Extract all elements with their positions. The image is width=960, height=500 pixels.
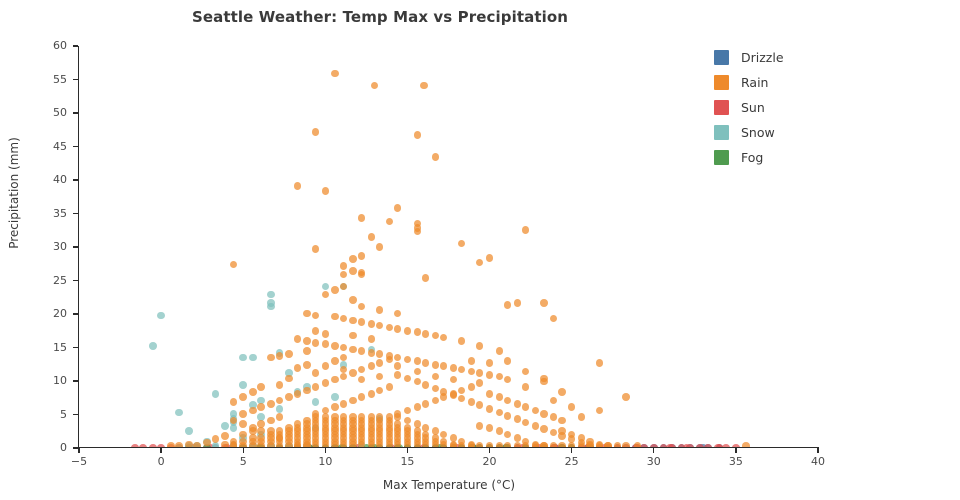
data-point-rain — [504, 376, 512, 384]
data-point-rain — [257, 383, 265, 391]
data-point-rain — [312, 383, 320, 391]
data-point-rain — [368, 390, 376, 398]
data-point-rain — [358, 376, 366, 384]
data-point-rain — [486, 424, 494, 432]
y-tick-mark — [73, 447, 78, 448]
y-tick-mark — [73, 45, 78, 46]
data-point-snow — [312, 398, 320, 406]
data-point-rain — [276, 397, 284, 405]
data-point-rain — [458, 366, 466, 374]
x-axis-line — [79, 447, 819, 448]
data-point-rain — [368, 233, 376, 241]
data-point-rain — [212, 435, 220, 443]
data-point-rain — [340, 262, 348, 270]
data-point-rain — [285, 424, 293, 432]
data-point-rain — [371, 82, 379, 90]
data-point-rain — [422, 400, 430, 408]
y-tick-mark — [73, 380, 78, 381]
data-point-snow — [175, 409, 183, 417]
data-point-rain — [285, 350, 293, 358]
data-point-rain — [568, 403, 576, 411]
data-point-rain — [496, 373, 504, 381]
data-point-rain — [458, 395, 466, 403]
data-point-rain — [386, 413, 394, 421]
legend-item-fog[interactable]: Fog — [714, 145, 894, 170]
data-point-rain — [312, 128, 320, 136]
data-point-rain — [432, 397, 440, 405]
data-point-rain — [458, 337, 466, 345]
data-point-rain — [331, 357, 339, 365]
data-point-rain — [504, 431, 512, 439]
data-point-rain — [340, 315, 348, 323]
data-point-rain — [285, 375, 293, 383]
x-tick-mark — [653, 448, 654, 453]
y-tick-mark — [73, 280, 78, 281]
data-point-rain — [414, 368, 422, 376]
x-tick-mark — [325, 448, 326, 453]
data-point-rain — [386, 324, 394, 332]
data-point-rain — [358, 413, 366, 421]
data-point-rain — [550, 413, 558, 421]
data-point-rain — [404, 407, 412, 415]
data-point-rain — [303, 347, 311, 355]
x-tick-label: 25 — [552, 455, 592, 468]
data-point-rain — [358, 252, 366, 260]
data-point-rain — [504, 397, 512, 405]
data-point-rain — [276, 413, 284, 421]
data-point-snow — [322, 283, 330, 291]
legend-item-snow[interactable]: Snow — [714, 120, 894, 145]
data-point-snow — [239, 381, 247, 389]
data-point-snow — [185, 427, 193, 435]
data-point-rain — [468, 398, 476, 406]
data-point-rain — [404, 424, 412, 432]
data-point-rain — [276, 352, 284, 360]
y-tick-label: 60 — [5, 39, 67, 52]
data-point-rain — [376, 322, 384, 330]
data-point-rain — [303, 361, 311, 369]
data-point-rain — [322, 413, 330, 421]
data-point-rain — [376, 387, 384, 395]
data-point-rain — [349, 413, 357, 421]
data-point-rain — [404, 327, 412, 335]
data-point-rain — [394, 420, 402, 428]
data-point-rain — [496, 393, 504, 401]
data-point-rain — [476, 369, 484, 377]
data-point-rain — [368, 335, 376, 343]
data-point-rain — [468, 368, 476, 376]
x-tick-label: 30 — [634, 455, 674, 468]
data-point-rain — [331, 313, 339, 321]
x-tick-label: 15 — [387, 455, 427, 468]
x-axis-label: Max Temperature (°C) — [79, 478, 819, 492]
x-tick-mark — [78, 448, 79, 453]
data-point-rain — [522, 403, 530, 411]
data-point-rain — [249, 388, 257, 396]
data-point-snow — [230, 424, 238, 432]
data-point-rain — [312, 369, 320, 377]
data-point-rain — [294, 420, 302, 428]
legend-swatch-snow — [714, 125, 729, 140]
legend-item-rain[interactable]: Rain — [714, 70, 894, 95]
data-point-rain — [294, 390, 302, 398]
data-point-rain — [394, 410, 402, 418]
data-point-rain — [422, 274, 430, 282]
y-tick-mark — [73, 313, 78, 314]
data-point-rain — [414, 328, 422, 336]
y-tick-mark — [73, 213, 78, 214]
data-point-rain — [476, 379, 484, 387]
data-point-rain — [331, 70, 339, 78]
data-point-rain — [239, 420, 247, 428]
legend-label: Fog — [741, 150, 763, 165]
data-point-rain — [312, 245, 320, 253]
data-point-rain — [322, 379, 330, 387]
data-point-rain — [358, 303, 366, 311]
data-point-rain — [358, 271, 366, 279]
data-point-rain — [349, 346, 357, 354]
data-point-rain — [578, 434, 586, 442]
data-point-rain — [540, 410, 548, 418]
data-point-rain — [414, 131, 422, 139]
data-point-rain — [504, 357, 512, 365]
data-point-rain — [376, 350, 384, 358]
x-tick-mark — [571, 448, 572, 453]
data-point-rain — [440, 334, 448, 342]
data-point-rain — [376, 373, 384, 381]
data-point-rain — [450, 364, 458, 372]
data-point-rain — [394, 354, 402, 362]
x-tick-label: 10 — [305, 455, 345, 468]
data-point-rain — [440, 393, 448, 401]
data-point-rain — [331, 376, 339, 384]
data-point-rain — [276, 381, 284, 389]
x-tick-mark — [407, 448, 408, 453]
data-point-rain — [386, 383, 394, 391]
data-point-snow — [267, 291, 275, 299]
data-point-rain — [322, 187, 330, 195]
data-point-rain — [322, 330, 330, 338]
x-tick-label: 40 — [798, 455, 838, 468]
data-point-rain — [249, 427, 257, 435]
data-point-rain — [394, 325, 402, 333]
data-point-rain — [622, 393, 630, 401]
data-point-rain — [331, 413, 339, 421]
data-point-rain — [312, 339, 320, 347]
data-point-rain — [230, 261, 238, 269]
data-point-rain — [368, 349, 376, 357]
data-point-rain — [331, 342, 339, 350]
legend-label: Sun — [741, 100, 765, 115]
x-tick-mark — [489, 448, 490, 453]
x-tick-label: 5 — [223, 455, 263, 468]
y-tick-mark — [73, 112, 78, 113]
data-point-rain — [267, 434, 275, 442]
data-point-rain — [331, 286, 339, 294]
data-point-rain — [458, 240, 466, 248]
data-point-rain — [496, 347, 504, 355]
data-point-rain — [322, 291, 330, 299]
data-point-rain — [596, 359, 604, 367]
data-point-rain — [496, 427, 504, 435]
data-point-rain — [267, 354, 275, 362]
data-point-rain — [303, 310, 311, 318]
data-point-snow — [249, 354, 257, 362]
data-point-rain — [340, 344, 348, 352]
data-point-rain — [432, 373, 440, 381]
data-point-rain — [249, 434, 257, 442]
data-point-rain — [394, 310, 402, 318]
data-point-rain — [468, 357, 476, 365]
data-point-rain — [303, 337, 311, 345]
data-point-rain — [514, 299, 522, 307]
data-point-rain — [522, 419, 530, 427]
legend-swatch-drizzle — [714, 50, 729, 65]
x-tick-label: 20 — [470, 455, 510, 468]
data-point-rain — [540, 375, 548, 383]
data-point-rain — [386, 218, 394, 226]
data-point-rain — [358, 366, 366, 374]
y-axis-line — [78, 46, 79, 449]
data-point-rain — [394, 362, 402, 370]
data-point-rain — [522, 226, 530, 234]
data-point-rain — [257, 420, 265, 428]
y-tick-mark — [73, 347, 78, 348]
y-tick-label: 5 — [5, 408, 67, 421]
data-point-rain — [550, 429, 558, 437]
legend-label: Rain — [741, 75, 768, 90]
legend-item-drizzle[interactable]: Drizzle — [714, 45, 894, 70]
data-point-rain — [550, 397, 558, 405]
plot-area — [79, 46, 818, 448]
data-point-rain — [376, 243, 384, 251]
data-point-rain — [368, 362, 376, 370]
data-point-rain — [440, 362, 448, 370]
y-tick-label: 20 — [5, 307, 67, 320]
data-point-rain — [349, 369, 357, 377]
data-point-rain — [540, 299, 548, 307]
data-point-snow — [149, 342, 157, 350]
data-point-rain — [422, 330, 430, 338]
data-point-rain — [358, 318, 366, 326]
legend: DrizzleRainSunSnowFog — [714, 45, 894, 170]
data-point-rain — [486, 390, 494, 398]
data-point-rain — [257, 434, 265, 442]
data-point-rain — [496, 409, 504, 417]
data-point-rain — [540, 425, 548, 433]
x-tick-label: −5 — [59, 455, 99, 468]
data-point-rain — [340, 373, 348, 381]
data-point-rain — [349, 255, 357, 263]
y-tick-label: 15 — [5, 341, 67, 354]
data-point-rain — [422, 381, 430, 389]
legend-item-sun[interactable]: Sun — [714, 95, 894, 120]
data-point-rain — [394, 371, 402, 379]
data-point-snow — [221, 422, 229, 430]
data-point-rain — [294, 335, 302, 343]
data-point-rain — [312, 312, 320, 320]
y-tick-mark — [73, 246, 78, 247]
data-point-rain — [486, 254, 494, 262]
data-point-rain — [340, 283, 348, 291]
data-point-rain — [230, 398, 238, 406]
data-point-rain — [476, 259, 484, 267]
data-point-rain — [349, 317, 357, 325]
data-point-rain — [340, 400, 348, 408]
data-point-rain — [249, 407, 257, 415]
data-point-rain — [239, 393, 247, 401]
data-point-rain — [476, 422, 484, 430]
data-point-rain — [450, 390, 458, 398]
data-point-rain — [522, 383, 530, 391]
data-point-rain — [394, 204, 402, 212]
scatter-chart: Seattle Weather: Temp Max vs Precipitati… — [0, 0, 960, 500]
data-point-rain — [331, 403, 339, 411]
x-tick-label: 0 — [141, 455, 181, 468]
legend-swatch-fog — [714, 150, 729, 165]
data-point-rain — [267, 417, 275, 425]
data-point-snow — [331, 393, 339, 401]
data-point-rain — [404, 356, 412, 364]
data-point-rain — [420, 82, 428, 90]
data-point-rain — [558, 432, 566, 440]
data-point-rain — [322, 362, 330, 370]
data-point-rain — [522, 368, 530, 376]
x-tick-label: 35 — [716, 455, 756, 468]
data-point-rain — [414, 427, 422, 435]
data-point-rain — [386, 356, 394, 364]
data-point-rain — [267, 427, 275, 435]
data-point-rain — [414, 378, 422, 386]
data-point-rain — [368, 413, 376, 421]
data-point-rain — [532, 407, 540, 415]
data-point-snow — [276, 405, 284, 413]
x-tick-mark — [243, 448, 244, 453]
data-point-rain — [432, 361, 440, 369]
data-point-rain — [358, 347, 366, 355]
data-point-rain — [450, 376, 458, 384]
data-point-rain — [404, 375, 412, 383]
data-point-rain — [285, 393, 293, 401]
data-point-rain — [376, 359, 384, 367]
y-tick-label: 55 — [5, 73, 67, 86]
data-point-rain — [276, 427, 284, 435]
data-point-rain — [349, 267, 357, 275]
data-point-rain — [221, 432, 229, 440]
data-point-rain — [358, 393, 366, 401]
data-point-rain — [558, 417, 566, 425]
data-point-rain — [294, 182, 302, 190]
y-tick-mark — [73, 179, 78, 180]
data-point-rain — [414, 228, 422, 236]
data-point-rain — [432, 385, 440, 393]
data-point-rain — [468, 383, 476, 391]
data-point-rain — [486, 359, 494, 367]
data-point-rain — [532, 422, 540, 430]
data-point-rain — [432, 153, 440, 161]
y-tick-label: 10 — [5, 374, 67, 387]
data-point-rain — [414, 403, 422, 411]
data-point-rain — [486, 371, 494, 379]
data-point-rain — [458, 387, 466, 395]
data-point-rain — [340, 366, 348, 374]
y-axis-label: Precipitation (mm) — [7, 93, 21, 293]
data-point-rain — [239, 410, 247, 418]
data-point-rain — [550, 315, 558, 323]
data-point-snow — [157, 312, 165, 320]
data-point-rain — [514, 434, 522, 442]
data-point-rain — [596, 407, 604, 415]
data-point-rain — [376, 306, 384, 314]
data-point-snow — [212, 390, 220, 398]
legend-label: Drizzle — [741, 50, 784, 65]
legend-swatch-rain — [714, 75, 729, 90]
data-point-rain — [340, 354, 348, 362]
data-point-rain — [578, 413, 586, 421]
data-point-rain — [349, 296, 357, 304]
legend-swatch-sun — [714, 100, 729, 115]
data-point-rain — [340, 271, 348, 279]
data-point-rain — [558, 388, 566, 396]
data-point-rain — [349, 332, 357, 340]
data-point-snow — [267, 303, 275, 311]
data-point-rain — [322, 340, 330, 348]
data-point-rain — [340, 413, 348, 421]
y-tick-mark — [73, 146, 78, 147]
data-point-snow — [239, 354, 247, 362]
legend-label: Snow — [741, 125, 775, 140]
data-point-rain — [303, 387, 311, 395]
data-point-rain — [312, 327, 320, 335]
y-tick-mark — [73, 414, 78, 415]
data-point-rain — [257, 403, 265, 411]
x-tick-mark — [160, 448, 161, 453]
y-tick-mark — [73, 79, 78, 80]
data-point-rain — [294, 364, 302, 372]
data-point-rain — [414, 357, 422, 365]
data-point-rain — [422, 359, 430, 367]
data-point-rain — [504, 412, 512, 420]
x-tick-mark — [817, 448, 818, 453]
data-point-rain — [504, 301, 512, 309]
data-point-rain — [358, 214, 366, 222]
data-point-rain — [368, 320, 376, 328]
data-point-rain — [476, 401, 484, 409]
chart-title: Seattle Weather: Temp Max vs Precipitati… — [0, 8, 760, 26]
data-point-rain — [514, 415, 522, 423]
data-point-rain — [486, 405, 494, 413]
data-point-rain — [349, 397, 357, 405]
data-point-rain — [432, 332, 440, 340]
data-point-rain — [514, 400, 522, 408]
y-tick-label: 0 — [5, 441, 67, 454]
x-tick-mark — [735, 448, 736, 453]
data-point-rain — [267, 400, 275, 408]
data-point-rain — [476, 342, 484, 350]
